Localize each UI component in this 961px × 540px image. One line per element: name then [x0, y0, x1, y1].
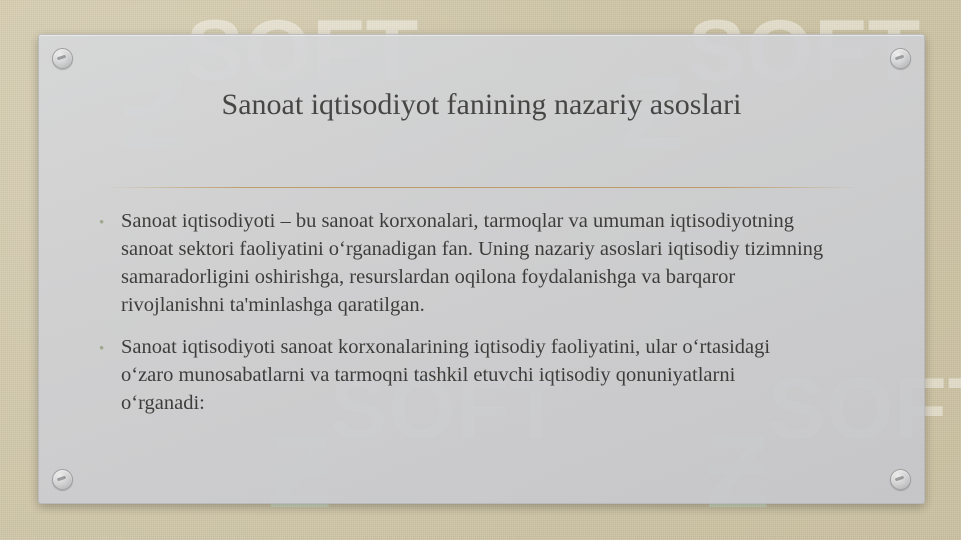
slide-panel: Sanoat iqtisodiyot fanining nazariy asos…: [38, 34, 925, 504]
list-item: • Sanoat iqtisodiyoti sanoat korxonalari…: [99, 333, 899, 417]
bullet-icon: •: [99, 207, 121, 231]
bullet-icon: •: [99, 333, 121, 357]
title-divider: [113, 187, 853, 188]
list-item: • Sanoat iqtisodiyoti – bu sanoat korxon…: [99, 207, 899, 319]
slide-content: Sanoat iqtisodiyot fanining nazariy asos…: [39, 35, 924, 503]
bullet-list: • Sanoat iqtisodiyoti – bu sanoat korxon…: [99, 207, 899, 432]
list-item-text: Sanoat iqtisodiyoti – bu sanoat korxonal…: [121, 207, 841, 319]
list-item-text: Sanoat iqtisodiyoti sanoat korxonalarini…: [121, 333, 781, 417]
slide-title: Sanoat iqtisodiyot fanining nazariy asos…: [79, 87, 884, 123]
presentation-slide: Ƶ Ƶ Ƶ Ƶ SOFT SOFT SOFT SOFT Sanoat iqtis…: [0, 0, 961, 540]
